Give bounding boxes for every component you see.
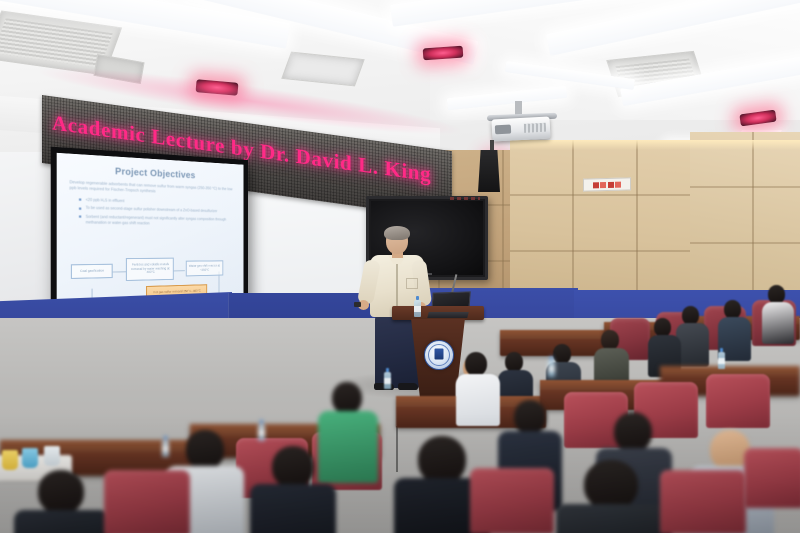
- presenter-hair: [384, 226, 410, 240]
- ceiling-speaker-icon: [478, 150, 500, 192]
- water-bottle-icon: [258, 424, 265, 441]
- display-bezel-buttons: [450, 197, 480, 200]
- air-vent-icon: [93, 54, 144, 84]
- water-bottle-icon: [718, 352, 725, 369]
- drink-cup: [22, 448, 38, 468]
- accent-light-icon: [196, 79, 239, 96]
- attendee: [556, 460, 666, 533]
- attendee: [762, 285, 796, 355]
- theater-seat: [104, 470, 190, 533]
- attendee: [250, 446, 336, 533]
- attendee: [14, 470, 110, 533]
- theater-seat: [744, 448, 800, 508]
- cove-lighting: [510, 140, 800, 150]
- slide-lead-paragraph: Develop regenerable adsorbents that can …: [69, 180, 233, 198]
- air-vent-icon: [281, 52, 364, 87]
- presenter-remote-icon: [354, 302, 361, 307]
- projector-lens: [495, 125, 511, 135]
- attendee: [456, 352, 500, 426]
- theater-seat: [660, 470, 746, 533]
- water-bottle-icon: [414, 300, 421, 317]
- flow-box: Water gas shift reactor at ~350°C: [185, 260, 223, 277]
- drink-cup: [2, 450, 18, 470]
- theater-seat: [706, 374, 770, 428]
- water-bottle-icon: [384, 372, 391, 389]
- projector-vent: [524, 123, 546, 133]
- lecture-hall-photo: Academic Lecture by Dr. David L. King Pr…: [0, 0, 800, 533]
- slide-bullet: To be used as second-stage sulfur polish…: [79, 205, 234, 215]
- flow-box: Coal gasification: [71, 264, 112, 279]
- slide-bullet: Sorbent (and reductant/regenerant) must …: [79, 214, 234, 228]
- theater-seat: [470, 468, 554, 533]
- drink-cup: [44, 446, 60, 466]
- wall-notice-sign: [583, 177, 631, 191]
- slide-bullet-list: <20 ppb H₂S in effluent To be used as se…: [79, 197, 234, 228]
- laptop-keyboard: [427, 312, 468, 318]
- flow-box: Particles and volatile metals removal by…: [126, 258, 174, 281]
- university-emblem-icon: [424, 340, 454, 370]
- slide-title: Project Objectives: [69, 163, 233, 183]
- water-bottle-icon: [548, 360, 555, 377]
- projector-icon: [491, 116, 550, 141]
